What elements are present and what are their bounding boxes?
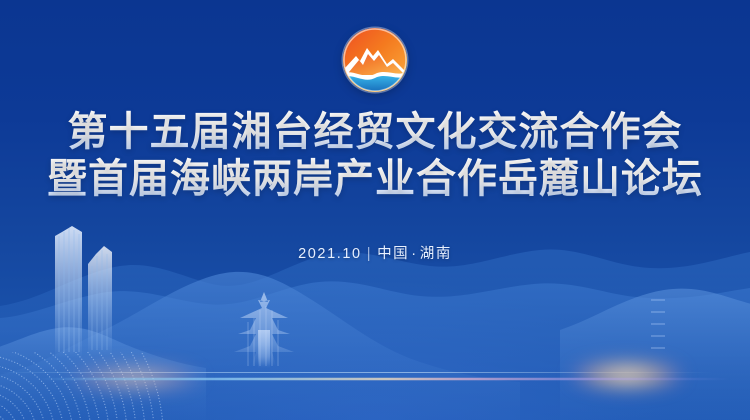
subtitle-date: 2021.10 (298, 246, 362, 262)
mountain-water-emblem-icon (343, 28, 407, 92)
subtitle-province: 湖南 (420, 246, 452, 262)
subtitle-middot: · (411, 246, 417, 262)
subtitle: 2021.10|中国·湖南 (0, 242, 750, 263)
subtitle-separator: | (367, 246, 372, 262)
event-logo (343, 28, 407, 92)
skyline-window-ticks (651, 300, 665, 348)
conference-banner: 第十五届湘台经贸文化交流合作会 暨首届海峡两岸产业合作岳麓山论坛 2021.10… (0, 0, 750, 420)
title-line-2: 暨首届海峡两岸产业合作岳麓山论坛 (0, 155, 750, 202)
horizon-glow-streak (40, 378, 730, 380)
title-line-1: 第十五届湘台经贸文化交流合作会 (0, 108, 750, 155)
subtitle-country: 中国 (377, 246, 409, 262)
horizon-glow-right (572, 360, 682, 390)
title-block: 第十五届湘台经贸文化交流合作会 暨首届海峡两岸产业合作岳麓山论坛 (0, 108, 750, 202)
mountain-silhouette-right (560, 289, 750, 420)
